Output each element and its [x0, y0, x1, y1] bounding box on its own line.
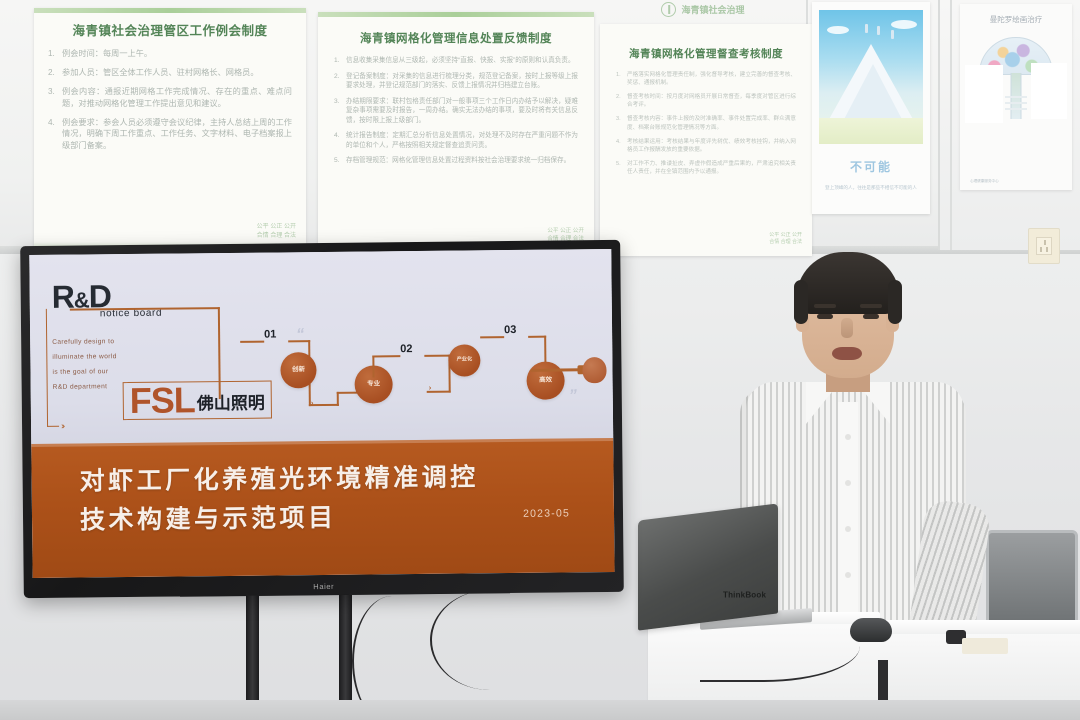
- wall-poster-3: 海青镇网格化管理督查考核制度 1.严格落实网格化管理责任制，强化督导考核，建立完…: [600, 24, 812, 256]
- green-header-label: 海青镇社会治理: [681, 3, 744, 16]
- flow-step-label: 03: [504, 324, 516, 336]
- socket-pin: [1040, 247, 1042, 252]
- paper-highlight: [1031, 63, 1067, 119]
- eye-right: [863, 314, 879, 319]
- wall-poster-2: 海青镇网格化管理信息处置反馈制度 1.信息收集采集信息从三级起，必须坚持“直报、…: [318, 12, 594, 258]
- paper-highlight: [965, 65, 1003, 123]
- list-number: 3.: [616, 115, 621, 123]
- poster-footer: 公平 公正 公开 合情 合理 合法: [769, 232, 802, 246]
- mandala-text-lines: [1005, 96, 1027, 114]
- hair: [796, 252, 900, 314]
- climber-figures: [819, 24, 923, 40]
- tv-brand-label: Haier: [313, 582, 334, 591]
- climber-icon: [865, 24, 868, 33]
- mandala-poster-title: 曼陀罗绘画治疗: [969, 14, 1063, 25]
- list-text: 参加人员：管区全体工作人员、驻村网格长、网格员。: [62, 68, 259, 77]
- list-number: 2.: [334, 72, 340, 82]
- list-text: 例会内容：通报近期网格工作完成情况、存在的重点、难点问题，对推动网格化管理工作提…: [62, 87, 292, 108]
- computer-mouse[interactable]: [850, 618, 892, 642]
- flow-connector: [424, 355, 450, 357]
- flow-node: 高效: [526, 361, 564, 399]
- hair-side-right: [888, 280, 902, 324]
- socket-pin: [1044, 240, 1046, 245]
- rd-notice-block: R&D notice board Carefully design to ill…: [52, 281, 203, 395]
- poster-footer-line: 合情 合理 合法: [769, 239, 802, 246]
- climber-icon: [877, 26, 880, 35]
- poster-footer-line: 公平 公正 公开: [769, 232, 802, 239]
- quote-close-icon: ”: [569, 387, 577, 405]
- list-number: 4.: [48, 117, 55, 129]
- list-item: 5.对工作不力、推诿扯皮、弄虚作假造成严重后果的，严肃追究相关责任人责任，并在全…: [616, 160, 796, 176]
- shirt-button: [845, 480, 851, 486]
- shirt-button: [845, 434, 851, 440]
- list-item: 4.例会要求：参会人员必须遵守会议纪律，主持人总结上周的工作情况，明确下周工作重…: [48, 117, 292, 153]
- list-item: 1.例会时间：每周一上午。: [48, 48, 292, 60]
- wall-seam: [950, 0, 952, 250]
- shirt-button: [845, 526, 851, 532]
- tv-cable: [430, 590, 550, 690]
- list-number: 5.: [616, 160, 621, 168]
- power-strip[interactable]: [962, 638, 1008, 654]
- list-item: 1.严格落实网格化管理责任制，强化督导考核，建立完善的督查考核、奖惩、通报机制。: [616, 71, 796, 87]
- chevron-right-icon: ››: [311, 400, 312, 407]
- text-line: [1005, 108, 1027, 110]
- list-text: 考核结果运用：考核结果与年度评先树优、绩效考核挂钩，并纳入网格员工作报酬发放的重…: [627, 139, 796, 153]
- poster-footer-line: 公平 公正 公开: [257, 223, 296, 231]
- haier-television[interactable]: R&D notice board Carefully design to ill…: [20, 240, 624, 598]
- list-text: 存档管理规范：网格化管理信息处置过程资料按社会治理要求统一归档保存。: [346, 157, 570, 164]
- slide-flowchart: “ 01 ›› 创新 专业 02: [258, 319, 609, 463]
- list-text: 督查考核时间：按月度对网格员开展日常督查，每季度对管区进行综合考评。: [627, 94, 796, 108]
- rd-corner-bracket: [46, 309, 59, 427]
- shirt-button: [845, 572, 851, 578]
- flow-connector: [372, 355, 374, 377]
- laptop-lid[interactable]: ThinkBook: [638, 503, 778, 630]
- socket-pin: [1046, 247, 1048, 252]
- list-number: 2.: [616, 93, 621, 101]
- list-text: 信息收集采集信息从三级起，必须坚持“直报、快报、实报”的原则和认真负责。: [346, 57, 575, 64]
- light-bulb-icon: [576, 353, 606, 387]
- list-number: 1.: [334, 56, 340, 66]
- eye-left: [817, 314, 833, 319]
- slide-date: 2023-05: [523, 508, 570, 520]
- rd-paragraph-line: Carefully design to: [52, 334, 202, 350]
- list-item: 2.督查考核时间：按月度对网格员开展日常督查，每季度对管区进行综合考评。: [616, 93, 796, 109]
- list-item: 4.考核结果运用：考核结果与年度评先树优、绩效考核挂钩，并纳入网格员工作报酬发放…: [616, 138, 796, 154]
- mandala-poster: 曼陀罗绘画治疗 心理健康服务中心: [960, 4, 1072, 190]
- poster-top-band: [318, 12, 594, 17]
- poster-title: 海青镇网格化管理信息处置反馈制度: [334, 30, 578, 46]
- slide-title-line-1: 对虾工厂化养殖光环境精准调控: [79, 459, 478, 502]
- mountain-poster-subtitle: 登上顶峰的人，往往是那些不相信不可能的人: [819, 185, 923, 191]
- list-item: 2.登记备案制度：对采集的信息进行梳理分类，规范登记备案，按时上报等级上报要求处…: [334, 72, 578, 91]
- list-text: 例会要求：参会人员必须遵守会议纪律，主持人总结上周的工作情况，明确下周工作重点、…: [62, 118, 292, 151]
- list-number: 5.: [334, 156, 340, 166]
- flow-step-label: 02: [400, 343, 412, 355]
- list-number: 3.: [48, 86, 55, 98]
- list-text: 督查考核内容：事件上报的及时准确率、事件处置完成率、群众满意度、档案台账规范化管…: [627, 116, 796, 130]
- poster-footer-line: 公平 公正 公开: [547, 228, 584, 236]
- text-line: [1005, 96, 1027, 98]
- list-item: 2.参加人员：管区全体工作人员、驻村网格长、网格员。: [48, 67, 292, 79]
- poster-title: 海青镇网格化管理督查考核制度: [616, 46, 796, 61]
- poster-item-list: 1.例会时间：每周一上午。 2.参加人员：管区全体工作人员、驻村网格长、网格员。…: [48, 48, 292, 152]
- wall-green-header: 海青镇社会治理: [608, 0, 798, 20]
- seal-icon: [661, 2, 676, 17]
- list-text: 办结期限要求：联村包格责任部门对一般事项三个工作日内办结予以解决，疑难复杂事项需…: [346, 98, 578, 124]
- chevron-right-icon: ››: [429, 385, 430, 392]
- list-item: 3.办结期限要求：联村包格责任部门对一般事项三个工作日内办结予以解决，疑难复杂事…: [334, 97, 578, 126]
- list-text: 登记备案制度：对采集的信息进行梳理分类，规范登记备案，按时上报等级上报要求处理，…: [346, 73, 578, 90]
- poster-item-list: 1.信息收集采集信息从三级起，必须坚持“直报、快报、实报”的原则和认真负责。 2…: [334, 56, 578, 166]
- flow-node: 产业化: [448, 344, 480, 376]
- list-item: 3.例会内容：通报近期网格工作完成情况、存在的重点、难点问题，对推动网格化管理工…: [48, 86, 292, 110]
- list-text: 严格落实网格化管理责任制，强化督导考核，建立完善的督查考核、奖惩、通报机制。: [627, 72, 796, 86]
- bulb-stem: [530, 368, 580, 372]
- poster-top-band: [34, 8, 306, 13]
- mountain-illustration: [819, 10, 923, 144]
- floor: [0, 700, 1080, 720]
- flow-connector: [427, 391, 451, 393]
- list-item: 3.督查考核内容：事件上报的及时准确率、事件处置完成率、群众满意度、档案台账规范…: [616, 115, 796, 131]
- climber-icon: [891, 30, 894, 39]
- list-item: 5.存档管理规范：网格化管理信息处置过程资料按社会治理要求统一归档保存。: [334, 156, 578, 166]
- fsl-brand-cn: 佛山照明: [197, 394, 265, 415]
- list-number: 4.: [616, 138, 621, 146]
- list-text: 例会时间：每周一上午。: [62, 49, 152, 58]
- presentation-slide: R&D notice board Carefully design to ill…: [29, 249, 614, 578]
- chevron-right-icon: ››: [61, 421, 63, 431]
- text-line: [1005, 102, 1027, 104]
- bulb-glass: [582, 357, 606, 383]
- list-text: 统计报告制度：定期汇总分析信息处置情况，对处理不及时存在严重问题不作为的单位和个…: [346, 132, 578, 149]
- flow-connector: [337, 392, 339, 406]
- list-number: 1.: [616, 71, 621, 79]
- laptop-brand-label: ThinkBook: [723, 591, 766, 600]
- list-number: 3.: [334, 97, 340, 107]
- eyebrow-left: [814, 304, 836, 308]
- fsl-brand-logo: FSL 佛山照明: [123, 381, 272, 421]
- mountain-foreground: [819, 118, 923, 144]
- list-number: 1.: [48, 48, 55, 60]
- wall-socket[interactable]: [1028, 228, 1060, 264]
- tv-screen[interactable]: R&D notice board Carefully design to ill…: [29, 249, 614, 578]
- hair-side-left: [794, 280, 808, 324]
- flow-connector: [480, 336, 504, 338]
- flow-connector: [288, 340, 310, 342]
- slide-title-line-2: 技术构建与示范项目: [80, 497, 479, 540]
- wall-poster-1: 海青镇社会治理管区工作例会制度 1.例会时间：每周一上午。 2.参加人员：管区全…: [34, 8, 306, 256]
- list-number: 2.: [48, 67, 55, 79]
- mountain-poster: 不可能 登上顶峰的人，往往是那些不相信不可能的人: [812, 2, 930, 214]
- tv-bezel: R&D notice board Carefully design to ill…: [20, 240, 624, 598]
- office-chair-back: [986, 530, 1078, 626]
- fsl-brand-en: FSL: [130, 384, 195, 417]
- flow-connector: [309, 404, 339, 406]
- slide-title: 对虾工厂化养殖光环境精准调控 技术构建与示范项目: [79, 459, 479, 541]
- mouth: [832, 347, 862, 360]
- rd-paragraph-line: illuminate the world: [52, 349, 202, 365]
- list-text: 对工作不力、推诿扯皮、弄虚作假造成严重后果的，严肃追究相关责任人责任，并在全镇范…: [627, 161, 796, 175]
- flow-step-label: 01: [264, 328, 276, 340]
- rd-paragraph-line: is the goal of our: [52, 364, 202, 380]
- socket-outlet-icon: [1036, 237, 1052, 255]
- poster-item-list: 1.严格落实网格化管理责任制，强化督导考核，建立完善的督查考核、奖惩、通报机制。…: [616, 71, 796, 176]
- flow-connector: [372, 355, 400, 357]
- list-number: 4.: [334, 131, 340, 141]
- eyebrow-right: [860, 304, 882, 308]
- poster-footer-line: 合情 合理 合法: [257, 232, 296, 240]
- list-item: 4.统计报告制度：定期汇总分析信息处置情况，对处理不及时存在严重问题不作为的单位…: [334, 131, 578, 150]
- list-item: 1.信息收集采集信息从三级起，必须坚持“直报、快报、实报”的原则和认真负责。: [334, 56, 578, 66]
- poster-title: 海青镇社会治理管区工作例会制度: [48, 20, 292, 39]
- flow-connector: [240, 341, 264, 343]
- photo-scene: 海青镇社会治理 海青镇社会治理管区工作例会制度 1.例会时间：每周一上午。 2.…: [0, 0, 1080, 720]
- poster-footer: 公平 公正 公开 合情 合理 合法: [257, 223, 296, 240]
- nose: [841, 318, 853, 338]
- mandala-poster-footer: 心理健康服务中心: [970, 179, 999, 184]
- desk-top-surface: [872, 620, 1080, 634]
- flow-node: 创新: [280, 352, 316, 388]
- mountain-poster-title: 不可能: [819, 158, 923, 175]
